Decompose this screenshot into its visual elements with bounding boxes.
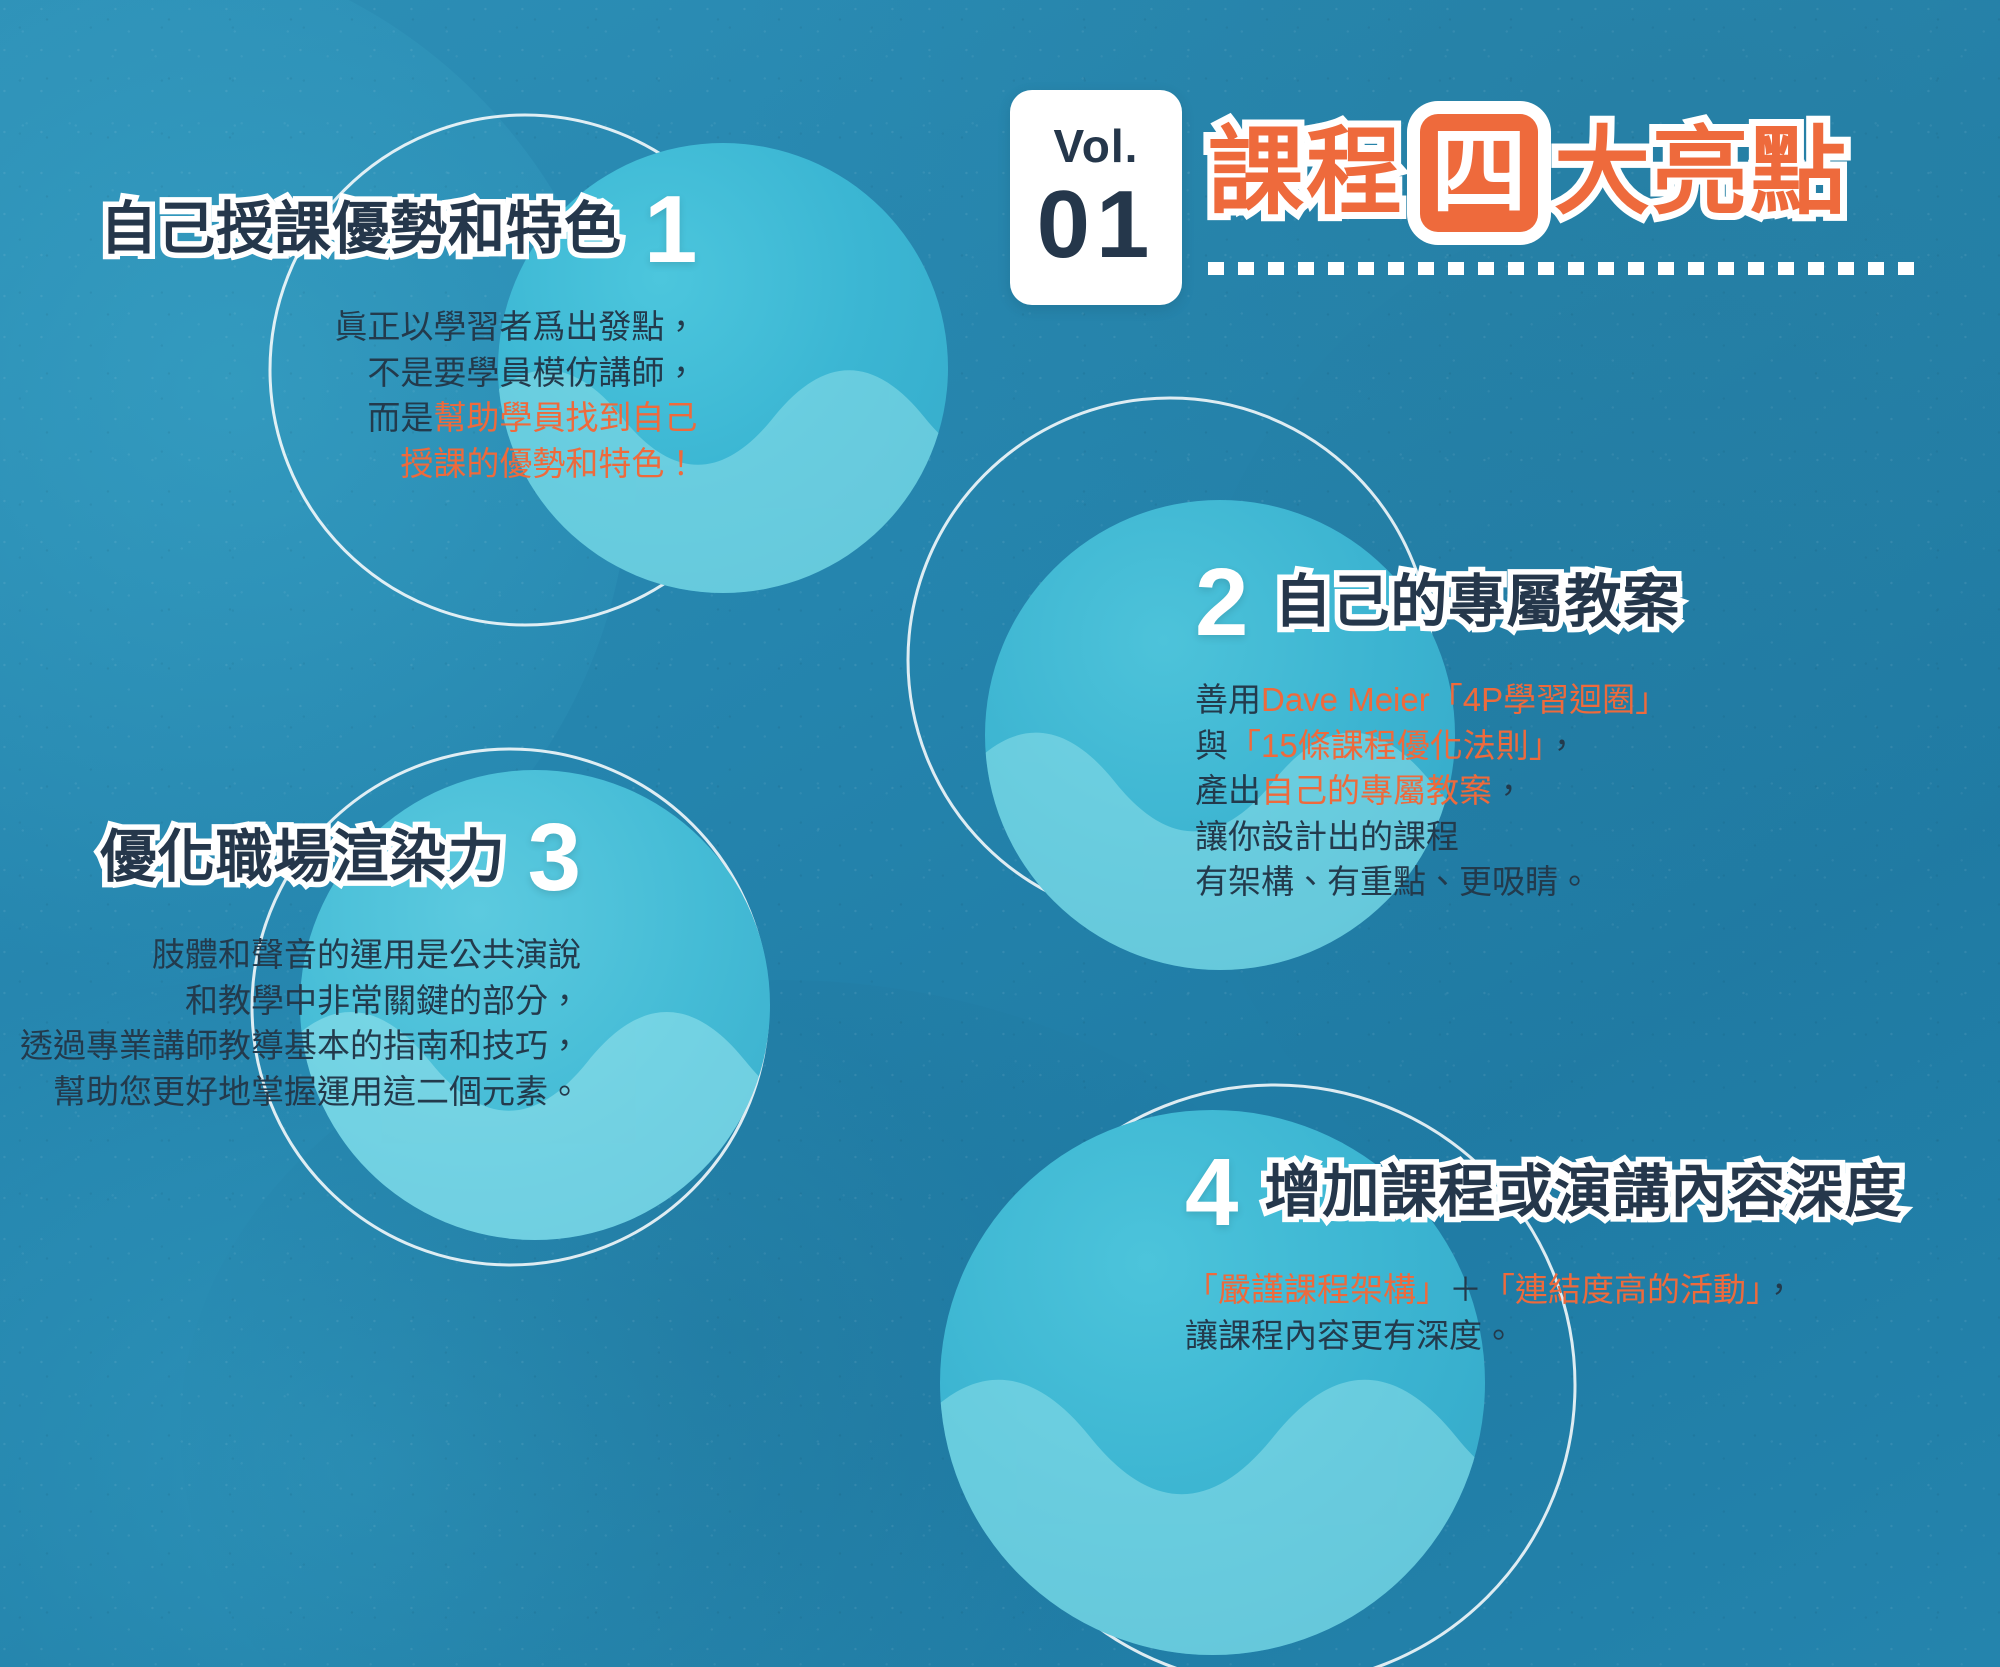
body-text: 不是要學員模仿講師， xyxy=(367,354,697,391)
body-line: 幫助您更好地掌握運用這二個元素。 xyxy=(20,1069,581,1115)
page-title: 課程 四 大亮點 xyxy=(1208,114,1928,232)
section-1-head: 自己授課優勢和特色 1 xyxy=(100,182,697,278)
highlight-text: 「連結度高的活動」 xyxy=(1482,1271,1763,1308)
highlight-text: 授課的優勢和特色！ xyxy=(400,445,697,482)
title-part-1: 課程 xyxy=(1208,125,1404,221)
section-1-title: 自己授課優勢和特色 xyxy=(100,200,622,260)
section-2-number: 2 xyxy=(1195,555,1248,651)
section-4-head: 4 增加課程或演講內容深度 xyxy=(1185,1145,1902,1241)
highlight-text: 幫助學員找到自己 xyxy=(433,399,697,436)
header-title-block: 課程 四 大亮點 xyxy=(1208,90,1928,275)
section-1-number: 1 xyxy=(644,182,697,278)
header: Vol. 01 課程 四 大亮點 xyxy=(1010,90,1928,305)
body-line: 讓你設計出的課程 xyxy=(1195,814,1680,860)
highlight-text: 「嚴謹課程架構」 xyxy=(1185,1271,1449,1308)
body-line: 透過專業講師教導基本的指南和技巧， xyxy=(20,1023,581,1069)
section-3-number: 3 xyxy=(528,810,581,906)
body-line: 有架構、有重點、更吸睛。 xyxy=(1195,859,1680,905)
section-3-head: 優化職場渲染力 3 xyxy=(20,810,581,906)
section-2-body: 善用Dave Meier「4P學習迴圈」與「15條課程優化法則」，產出自己的專屬… xyxy=(1195,677,1680,905)
title-boxed-character: 四 xyxy=(1420,114,1538,232)
body-line: 肢體和聲音的運用是公共演說 xyxy=(20,932,581,978)
body-text: 產出 xyxy=(1195,772,1261,809)
section-3-body: 肢體和聲音的運用是公共演說和教學中非常關鍵的部分，透過專業講師教導基本的指南和技… xyxy=(20,932,581,1114)
body-text: ， xyxy=(1545,727,1578,764)
highlight-text: 「15條課程優化法則」 xyxy=(1228,727,1545,764)
section-2: 2 自己的專屬教案 善用Dave Meier「4P學習迴圈」與「15條課程優化法… xyxy=(1195,555,1680,905)
body-text: 有架構、有重點、更吸睛。 xyxy=(1195,863,1591,900)
section-1-body: 眞正以學習者爲出發點，不是要學員模仿講師，而是幫助學員找到自己授課的優勢和特色！ xyxy=(100,304,697,486)
section-2-title: 自己的專屬教案 xyxy=(1274,573,1680,633)
dotted-divider xyxy=(1208,262,1928,275)
title-boxed-label: 四 xyxy=(1431,125,1527,221)
body-line: 與「15條課程優化法則」， xyxy=(1195,723,1680,769)
body-line: 善用Dave Meier「4P學習迴圈」 xyxy=(1195,677,1680,723)
body-line: 眞正以學習者爲出發點， xyxy=(100,304,697,350)
body-text: ＋ xyxy=(1449,1271,1482,1308)
section-4: 4 增加課程或演講內容深度 「嚴謹課程架構」＋「連結度高的活動」，讓課程內容更有… xyxy=(1185,1145,1902,1358)
body-text: 善用 xyxy=(1195,681,1261,718)
highlight-text: 自己的專屬教案 xyxy=(1261,772,1492,809)
body-line: 產出自己的專屬教案， xyxy=(1195,768,1680,814)
body-line: 而是幫助學員找到自己 xyxy=(100,395,697,441)
body-line: 授課的優勢和特色！ xyxy=(100,441,697,487)
volume-number: 01 xyxy=(1037,177,1156,273)
section-3: 優化職場渲染力 3 肢體和聲音的運用是公共演說和教學中非常關鍵的部分，透過專業講… xyxy=(20,810,581,1114)
section-4-title: 增加課程或演講內容深度 xyxy=(1264,1163,1902,1223)
wave-shape-4 xyxy=(940,1328,1485,1655)
section-4-body: 「嚴謹課程架構」＋「連結度高的活動」，讓課程內容更有深度。 xyxy=(1185,1267,1902,1358)
section-3-title: 優化職場渲染力 xyxy=(100,828,506,888)
volume-label: Vol. xyxy=(1054,123,1139,169)
body-text: 肢體和聲音的運用是公共演說 xyxy=(152,936,581,973)
body-line: 和教學中非常關鍵的部分， xyxy=(20,978,581,1024)
body-text: ， xyxy=(1763,1271,1796,1308)
body-text: 透過專業講師教導基本的指南和技巧， xyxy=(20,1027,581,1064)
section-2-head: 2 自己的專屬教案 xyxy=(1195,555,1680,651)
body-line: 讓課程內容更有深度。 xyxy=(1185,1313,1902,1359)
body-text: 眞正以學習者爲出發點， xyxy=(334,308,697,345)
volume-badge: Vol. 01 xyxy=(1010,90,1182,305)
body-text: ， xyxy=(1492,772,1525,809)
body-text: 幫助您更好地掌握運用這二個元素。 xyxy=(53,1073,581,1110)
body-text: 和教學中非常關鍵的部分， xyxy=(185,982,581,1019)
title-part-2: 大亮點 xyxy=(1554,125,1848,221)
section-1: 自己授課優勢和特色 1 眞正以學習者爲出發點，不是要學員模仿講師，而是幫助學員找… xyxy=(100,182,697,486)
body-line: 「嚴謹課程架構」＋「連結度高的活動」， xyxy=(1185,1267,1902,1313)
highlight-text: Dave Meier「4P學習迴圈」 xyxy=(1261,681,1668,718)
section-4-number: 4 xyxy=(1185,1145,1238,1241)
body-text: 而是 xyxy=(367,399,433,436)
body-text: 讓你設計出的課程 xyxy=(1195,818,1459,855)
body-text: 讓課程內容更有深度。 xyxy=(1185,1317,1515,1354)
body-line: 不是要學員模仿講師， xyxy=(100,350,697,396)
infographic-canvas: Vol. 01 課程 四 大亮點 自己授課優勢和特色 1 眞正以學習者爲出發點，… xyxy=(0,0,2000,1667)
body-text: 與 xyxy=(1195,727,1228,764)
